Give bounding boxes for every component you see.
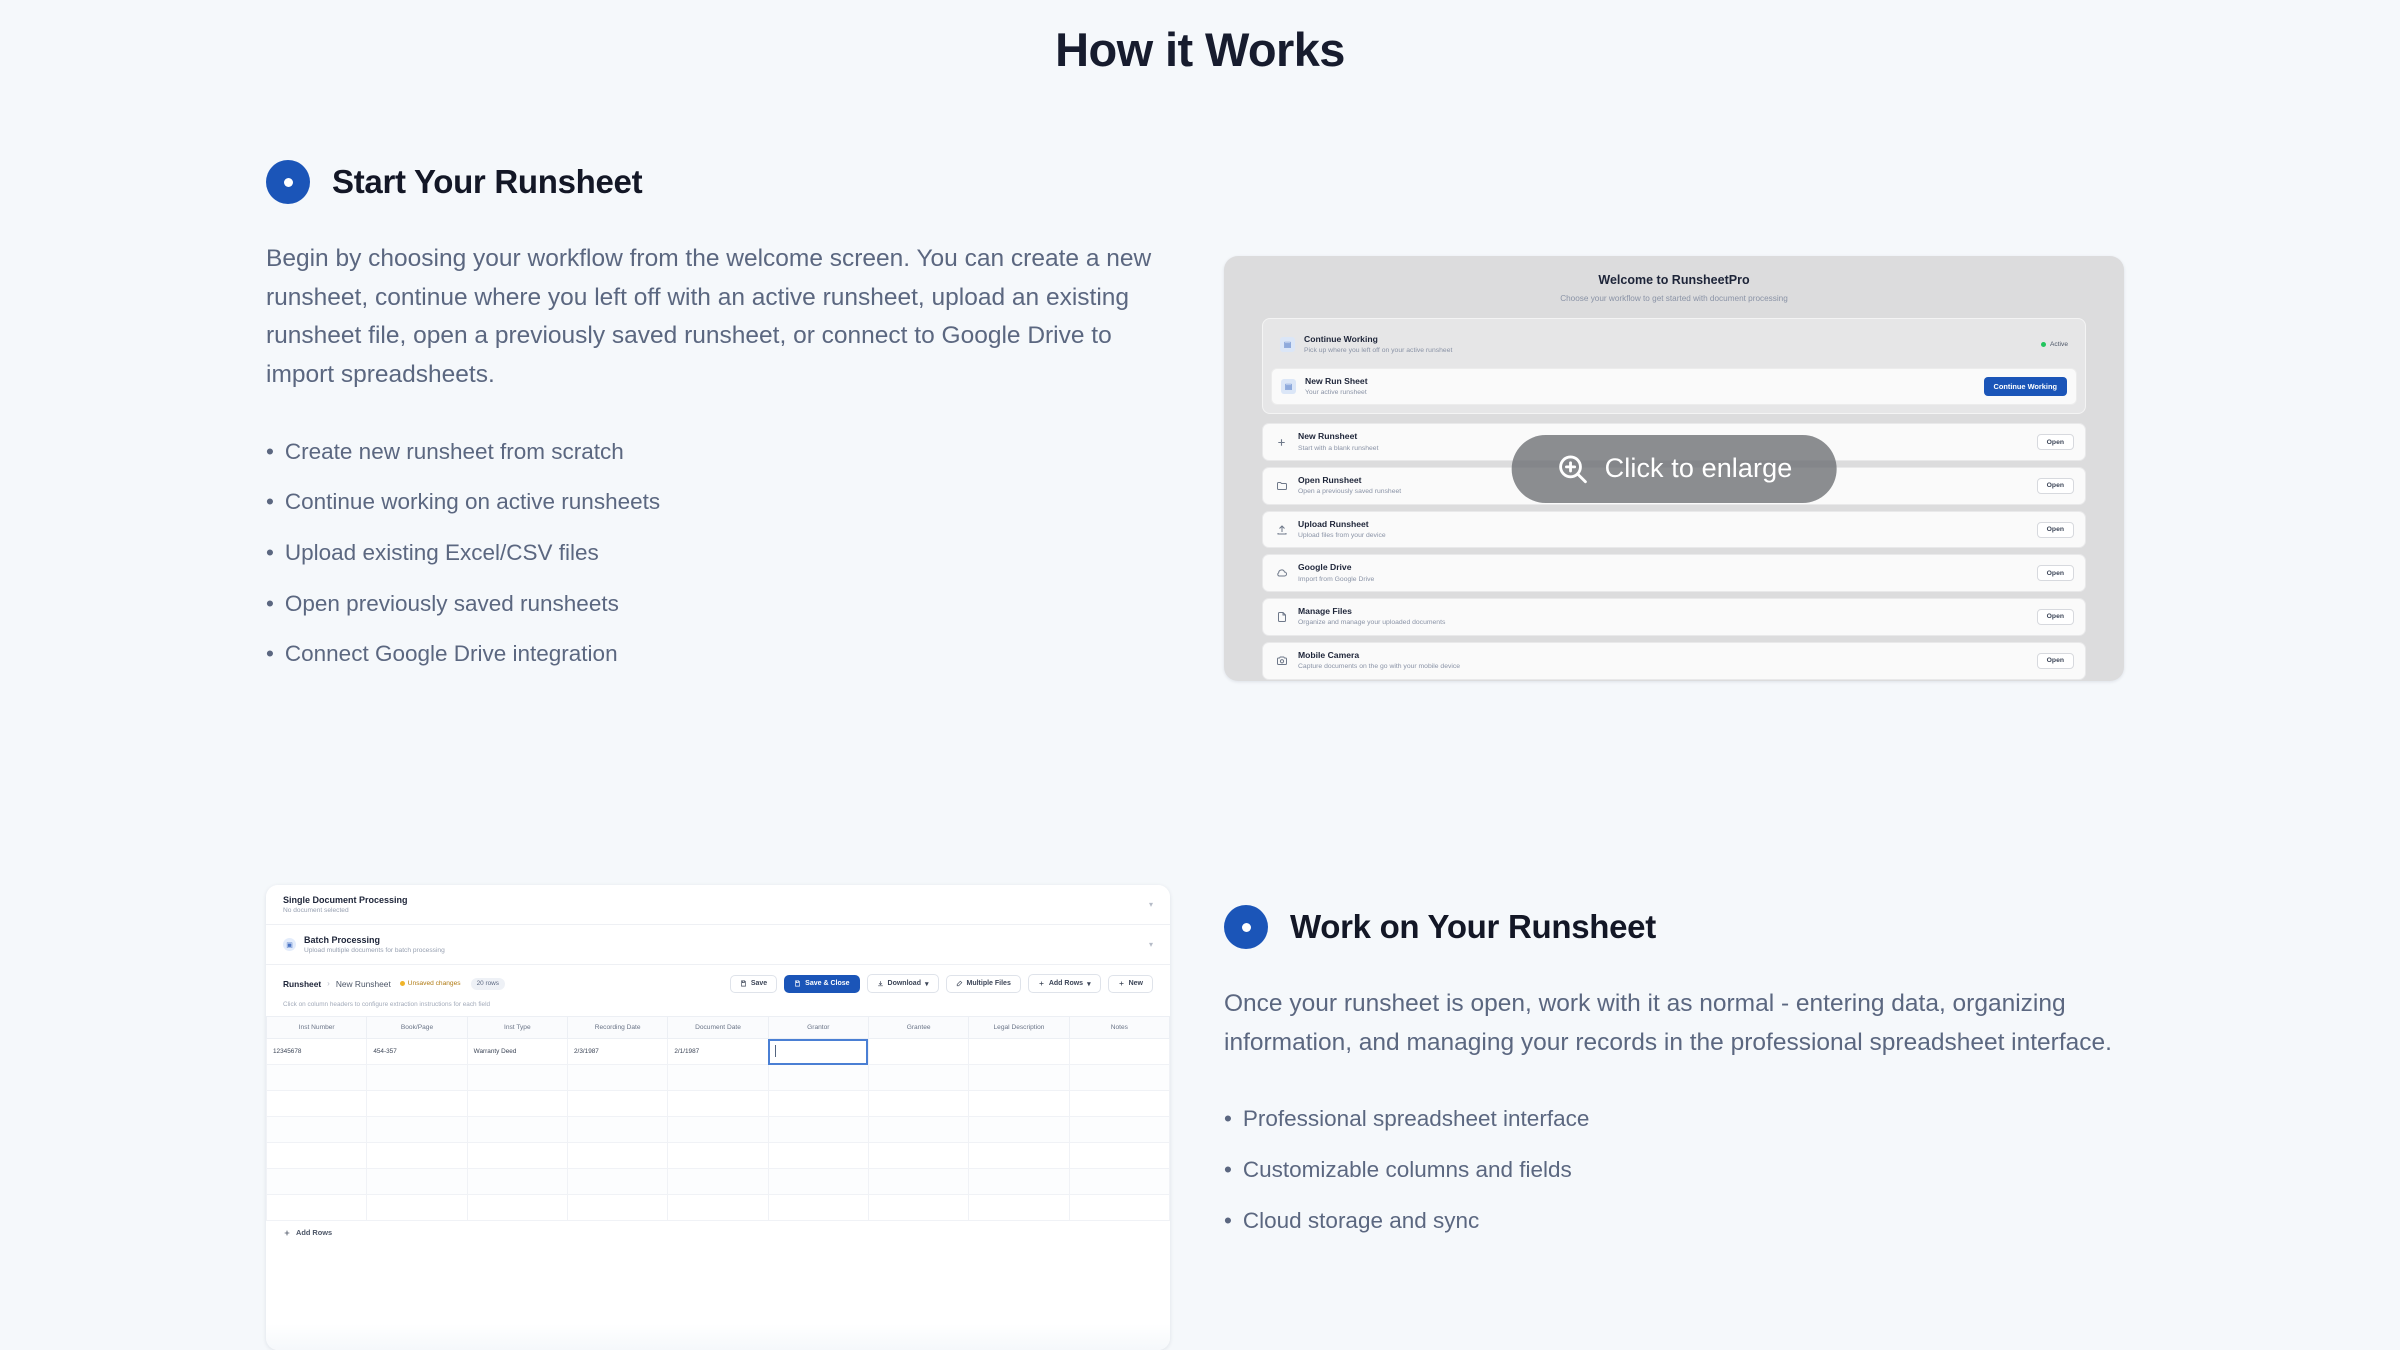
- open-button[interactable]: Open: [2037, 609, 2074, 625]
- cloud-icon: [1274, 566, 1289, 581]
- step-work-on-your-runsheet: Work on Your Runsheet Once your runsheet…: [1224, 905, 2129, 1246]
- unsaved-changes-badge: Unsaved changes: [400, 980, 461, 987]
- file-icon: [1274, 609, 1289, 624]
- click-to-enlarge-label: Click to enlarge: [1605, 453, 1793, 484]
- list-item: •Upload existing Excel/CSV files: [266, 528, 1171, 579]
- cell[interactable]: [969, 1091, 1069, 1117]
- cell[interactable]: [1069, 1117, 1169, 1143]
- step-2-text-column: Work on Your Runsheet Once your runsheet…: [1224, 905, 2129, 1246]
- cell[interactable]: [467, 1143, 567, 1169]
- option-name: Mobile Camera: [1298, 650, 2037, 661]
- table-row[interactable]: 12345678 454-357 Warranty Deed 2/3/1987 …: [267, 1039, 1170, 1065]
- multiple-files-button[interactable]: Multiple Files: [946, 975, 1021, 993]
- bullet-icon: •: [1224, 1106, 1232, 1131]
- cell[interactable]: [267, 1117, 367, 1143]
- feature-label: Upload existing Excel/CSV files: [285, 540, 599, 565]
- breadcrumb-separator: ›: [327, 979, 330, 988]
- column-header-grantee[interactable]: Grantee: [868, 1017, 968, 1039]
- cell[interactable]: [267, 1143, 367, 1169]
- cell[interactable]: [1069, 1195, 1169, 1221]
- cell[interactable]: [969, 1143, 1069, 1169]
- list-item: •Continue working on active runsheets: [266, 477, 1171, 528]
- table-row[interactable]: [267, 1091, 1170, 1117]
- cell[interactable]: [1069, 1091, 1169, 1117]
- spreadsheet-thumbnail[interactable]: Single Document Processing No document s…: [266, 885, 1170, 1350]
- cell[interactable]: [868, 1195, 968, 1221]
- welcome-subtitle: Choose your workflow to get started with…: [1224, 294, 2124, 303]
- cell[interactable]: [467, 1117, 567, 1143]
- chevron-down-icon: ▾: [925, 980, 929, 988]
- feature-label: Professional spreadsheet interface: [1243, 1106, 1589, 1131]
- cell[interactable]: [868, 1143, 968, 1169]
- page-title: How it Works: [0, 0, 2400, 77]
- step-2-header: Work on Your Runsheet: [1224, 905, 2129, 949]
- bullet-icon: •: [266, 489, 274, 514]
- column-header-notes[interactable]: Notes: [1069, 1017, 1169, 1039]
- cell[interactable]: [868, 1117, 968, 1143]
- option-name: Manage Files: [1298, 606, 2037, 617]
- cell[interactable]: [768, 1117, 868, 1143]
- cell[interactable]: [668, 1065, 768, 1091]
- step-2-title: Work on Your Runsheet: [1290, 908, 1656, 946]
- option-desc: Organize and manage your uploaded docume…: [1298, 618, 2037, 628]
- cell[interactable]: [768, 1143, 868, 1169]
- cell[interactable]: [367, 1169, 467, 1195]
- runsheet-toolbar: Runsheet › New Runsheet Unsaved changes …: [266, 965, 1170, 997]
- cell[interactable]: [668, 1143, 768, 1169]
- bullet-icon: •: [266, 641, 274, 666]
- option-name: Upload Runsheet: [1298, 519, 2037, 530]
- card-title: Batch Processing: [304, 935, 1149, 945]
- option-desc: Import from Google Drive: [1298, 575, 2037, 585]
- camera-icon: [1274, 653, 1289, 668]
- column-header-legal-description[interactable]: Legal Description: [969, 1017, 1069, 1039]
- option-name: Google Drive: [1298, 562, 2037, 573]
- cell[interactable]: [267, 1195, 367, 1221]
- step-dot-icon: [1224, 905, 1268, 949]
- table-header-row: Inst Number Book/Page Inst Type Recordin…: [267, 1017, 1170, 1039]
- bullet-icon: •: [266, 591, 274, 616]
- unsaved-changes-label: Unsaved changes: [408, 980, 461, 987]
- table-row[interactable]: [267, 1169, 1170, 1195]
- list-item: •Open previously saved runsheets: [266, 579, 1171, 630]
- bullet-icon: •: [266, 439, 274, 464]
- cell[interactable]: [768, 1195, 868, 1221]
- cell[interactable]: [467, 1065, 567, 1091]
- upload-icon: [1274, 522, 1289, 537]
- welcome-screen-thumbnail[interactable]: Welcome to RunsheetPro Choose your workf…: [1224, 256, 2124, 681]
- zoom-in-icon: [1556, 452, 1590, 486]
- option-google-drive[interactable]: Google Drive Import from Google Drive Op…: [1262, 554, 2086, 592]
- feature-label: Customizable columns and fields: [1243, 1157, 1572, 1182]
- option-mobile-camera[interactable]: Mobile Camera Capture documents on the g…: [1262, 642, 2086, 680]
- feature-label: Cloud storage and sync: [1243, 1208, 1479, 1233]
- chevron-down-icon[interactable]: ▾: [1149, 900, 1153, 909]
- option-desc: Upload files from your device: [1298, 531, 2037, 541]
- download-label: Download: [888, 980, 921, 987]
- welcome-title: Welcome to RunsheetPro: [1224, 273, 2124, 287]
- folder-icon: [1274, 478, 1289, 493]
- continue-working-header: ▤ Continue Working Pick up where you lef…: [1271, 327, 2077, 363]
- cell[interactable]: 454-357: [367, 1039, 467, 1065]
- sheet-action-buttons: Save Save & Close Download ▾ Multiple Fi…: [730, 974, 1153, 993]
- active-runsheet-row[interactable]: ▤ New Run Sheet Your active runsheet Con…: [1271, 368, 2077, 406]
- add-rows-footer-label: Add Rows: [296, 1228, 332, 1237]
- click-to-enlarge-overlay[interactable]: Click to enlarge: [1512, 435, 1837, 503]
- badge-inner-dot: [1242, 923, 1251, 932]
- cell[interactable]: [467, 1091, 567, 1117]
- cell[interactable]: [969, 1195, 1069, 1221]
- cell[interactable]: [868, 1169, 968, 1195]
- save-button[interactable]: Save: [730, 975, 777, 993]
- cell[interactable]: [367, 1143, 467, 1169]
- column-header-recording-date[interactable]: Recording Date: [567, 1017, 667, 1039]
- active-runsheet-desc: Your active runsheet: [1305, 388, 1984, 398]
- badge-inner-dot: [284, 178, 293, 187]
- column-header-book-page[interactable]: Book/Page: [367, 1017, 467, 1039]
- multiple-files-label: Multiple Files: [967, 980, 1011, 987]
- new-button[interactable]: New: [1108, 975, 1153, 993]
- cell[interactable]: [467, 1195, 567, 1221]
- feature-label: Continue working on active runsheets: [285, 489, 660, 514]
- column-header-inst-type[interactable]: Inst Type: [467, 1017, 567, 1039]
- cell[interactable]: [868, 1065, 968, 1091]
- card-title: Single Document Processing: [283, 895, 1149, 905]
- step-2-feature-list: •Professional spreadsheet interface •Cus…: [1224, 1094, 2129, 1246]
- bullet-icon: •: [266, 540, 274, 565]
- step-2-body: Once your runsheet is open, work with it…: [1224, 985, 2129, 1062]
- open-button[interactable]: Open: [2037, 565, 2074, 581]
- cell[interactable]: [567, 1065, 667, 1091]
- list-item: •Cloud storage and sync: [1224, 1196, 2129, 1247]
- list-item: •Connect Google Drive integration: [266, 629, 1171, 680]
- card-desc: Upload multiple documents for batch proc…: [304, 947, 1149, 954]
- breadcrumb-current: New Runsheet: [336, 979, 391, 989]
- cell[interactable]: [1069, 1169, 1169, 1195]
- status-dot-icon: [2041, 342, 2046, 347]
- cell[interactable]: [467, 1169, 567, 1195]
- cell[interactable]: [1069, 1143, 1169, 1169]
- cell[interactable]: [567, 1195, 667, 1221]
- cell[interactable]: [367, 1195, 467, 1221]
- open-button[interactable]: Open: [2037, 478, 2074, 494]
- cell[interactable]: 2/3/1987: [567, 1039, 667, 1065]
- add-rows-label: Add Rows: [1049, 980, 1083, 987]
- cell[interactable]: [668, 1169, 768, 1195]
- open-button[interactable]: Open: [2037, 522, 2074, 538]
- chevron-down-icon: ▾: [1087, 980, 1091, 988]
- breadcrumb-root[interactable]: Runsheet: [283, 979, 321, 989]
- continue-working-name: Continue Working: [1304, 334, 2041, 345]
- step-start-your-runsheet: Start Your Runsheet Begin by choosing yo…: [266, 160, 1171, 680]
- file-icon: ▤: [1281, 379, 1296, 394]
- download-button[interactable]: Download ▾: [867, 974, 939, 993]
- list-item: •Customizable columns and fields: [1224, 1145, 2129, 1196]
- add-rows-button[interactable]: Add Rows ▾: [1028, 974, 1101, 993]
- cell[interactable]: Warranty Deed: [467, 1039, 567, 1065]
- cell[interactable]: [567, 1117, 667, 1143]
- cell[interactable]: [267, 1091, 367, 1117]
- cell[interactable]: [969, 1039, 1069, 1065]
- option-desc: Capture documents on the go with your mo…: [1298, 662, 2037, 672]
- status-badge: Active: [2041, 341, 2068, 348]
- cell[interactable]: [567, 1091, 667, 1117]
- step-1-body: Begin by choosing your workflow from the…: [266, 240, 1171, 395]
- cell[interactable]: [668, 1195, 768, 1221]
- cell[interactable]: [567, 1169, 667, 1195]
- runsheet-table[interactable]: Inst Number Book/Page Inst Type Recordin…: [266, 1016, 1170, 1221]
- warning-dot-icon: [400, 981, 405, 986]
- status-label: Active: [2050, 341, 2068, 348]
- cell[interactable]: [567, 1143, 667, 1169]
- cell[interactable]: [969, 1065, 1069, 1091]
- new-label: New: [1129, 980, 1143, 987]
- open-button[interactable]: Open: [2037, 653, 2074, 669]
- cell[interactable]: [1069, 1065, 1169, 1091]
- step-1-text-column: Start Your Runsheet Begin by choosing yo…: [266, 160, 1171, 680]
- row-count-badge: 20 rows: [471, 978, 505, 990]
- save-label: Save: [751, 980, 767, 987]
- list-item: •Create new runsheet from scratch: [266, 427, 1171, 478]
- continue-working-desc: Pick up where you left off on your activ…: [1304, 346, 2041, 356]
- bullet-icon: •: [1224, 1157, 1232, 1182]
- cell[interactable]: [969, 1169, 1069, 1195]
- cell[interactable]: [267, 1065, 367, 1091]
- cell[interactable]: [768, 1091, 868, 1117]
- bullet-icon: •: [1224, 1208, 1232, 1233]
- table-row[interactable]: [267, 1143, 1170, 1169]
- cell-selected[interactable]: [768, 1039, 868, 1065]
- cell[interactable]: [1069, 1039, 1169, 1065]
- column-header-grantor[interactable]: Grantor: [768, 1017, 868, 1039]
- open-button[interactable]: Open: [2037, 434, 2074, 450]
- column-header-document-date[interactable]: Document Date: [668, 1017, 768, 1039]
- step-1-feature-list: •Create new runsheet from scratch •Conti…: [266, 427, 1171, 680]
- card-desc: No document selected: [283, 907, 1149, 914]
- file-icon: ▤: [1280, 337, 1295, 352]
- option-upload-runsheet[interactable]: Upload Runsheet Upload files from your d…: [1262, 511, 2086, 549]
- fade-overlay: [266, 1324, 1170, 1350]
- save-and-close-button[interactable]: Save & Close: [784, 975, 859, 993]
- column-header-inst-number[interactable]: Inst Number: [267, 1017, 367, 1039]
- cell[interactable]: [868, 1091, 968, 1117]
- add-rows-footer-button[interactable]: Add Rows: [266, 1221, 1170, 1244]
- continue-working-button[interactable]: Continue Working: [1984, 377, 2068, 396]
- feature-label: Connect Google Drive integration: [285, 641, 618, 666]
- plus-icon: [1274, 435, 1289, 450]
- active-runsheet-name: New Run Sheet: [1305, 376, 1984, 387]
- chevron-down-icon[interactable]: ▾: [1149, 940, 1153, 949]
- cell[interactable]: [367, 1091, 467, 1117]
- feature-label: Create new runsheet from scratch: [285, 439, 624, 464]
- step-1-title: Start Your Runsheet: [332, 163, 642, 201]
- single-document-processing-card[interactable]: Single Document Processing No document s…: [266, 885, 1170, 925]
- column-config-hint: Click on column headers to configure ext…: [266, 997, 1170, 1016]
- how-it-works-page: How it Works Start Your Runsheet Begin b…: [0, 0, 2400, 1350]
- table-row[interactable]: [267, 1117, 1170, 1143]
- feature-label: Open previously saved runsheets: [285, 591, 619, 616]
- cell[interactable]: [367, 1065, 467, 1091]
- cell[interactable]: [367, 1117, 467, 1143]
- continue-working-panel: ▤ Continue Working Pick up where you lef…: [1262, 318, 2086, 414]
- layers-icon: ▣: [283, 938, 296, 951]
- cell[interactable]: [668, 1117, 768, 1143]
- cell[interactable]: [768, 1065, 868, 1091]
- cell[interactable]: [969, 1117, 1069, 1143]
- cell[interactable]: [267, 1169, 367, 1195]
- step-1-header: Start Your Runsheet: [266, 160, 1171, 204]
- plus-icon: [283, 1229, 291, 1237]
- cell[interactable]: [868, 1039, 968, 1065]
- cell[interactable]: 2/1/1987: [668, 1039, 768, 1065]
- table-row[interactable]: [267, 1065, 1170, 1091]
- list-item: •Professional spreadsheet interface: [1224, 1094, 2129, 1145]
- option-manage-files[interactable]: Manage Files Organize and manage your up…: [1262, 598, 2086, 636]
- table-row[interactable]: [267, 1195, 1170, 1221]
- batch-processing-card[interactable]: ▣ Batch Processing Upload multiple docum…: [266, 925, 1170, 965]
- cell[interactable]: [668, 1091, 768, 1117]
- cell[interactable]: 12345678: [267, 1039, 367, 1065]
- save-and-close-label: Save & Close: [805, 980, 849, 987]
- cell[interactable]: [768, 1169, 868, 1195]
- step-dot-icon: [266, 160, 310, 204]
